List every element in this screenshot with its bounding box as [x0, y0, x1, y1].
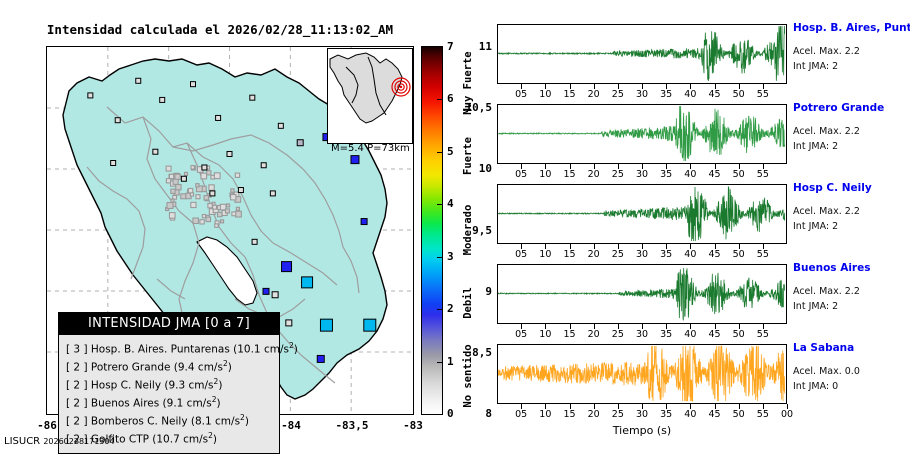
x-tick-label: 15 [558, 169, 582, 180]
x-tick-label: 40 [678, 329, 702, 340]
x-tick-label: 35 [654, 329, 678, 340]
colorbar-tick-mark [437, 152, 443, 153]
x-tick-label: 35 [654, 89, 678, 100]
urban-cell [225, 209, 229, 213]
station-marker[interactable] [297, 140, 303, 146]
legend-row: [ 2 ] Potrero Grande (9.4 cm/s2) [66, 357, 273, 375]
x-tick-label: 50 [727, 169, 751, 180]
x-tick-label: 20 [582, 169, 606, 180]
x-tick-label: 45 [703, 249, 727, 260]
urban-cell [191, 202, 196, 207]
station-marker[interactable] [136, 78, 141, 83]
waveform-canvas [498, 105, 785, 162]
seismogram-plot[interactable] [497, 344, 787, 404]
x-tick-label: 30 [630, 249, 654, 260]
x-tick-label: 05 [509, 169, 533, 180]
seismogram-plot[interactable] [497, 264, 787, 324]
urban-cell [200, 220, 204, 224]
x-tick-label: 20 [582, 409, 606, 420]
x-tick-label: 25 [606, 169, 630, 180]
urban-cell [169, 174, 173, 178]
station-marker[interactable] [351, 156, 359, 164]
map-x-tick: -83,5 [327, 419, 377, 432]
station-name[interactable]: Buenos Aires [793, 262, 870, 274]
x-tick-label: 45 [703, 409, 727, 420]
urban-cell [191, 166, 194, 169]
x-tick-label: 15 [558, 89, 582, 100]
station-int-jma: Int JMA: 0 [793, 381, 838, 392]
intensity-legend: INTENSIDAD JMA [0 a 7] [ 3 ] Hosp. B. Ai… [58, 312, 280, 454]
station-marker[interactable] [111, 160, 116, 165]
station-marker[interactable] [261, 163, 266, 168]
station-name[interactable]: Hosp. B. Aires, Puntare [793, 22, 910, 34]
x-tick-label: 25 [606, 409, 630, 420]
urban-cell [209, 185, 214, 190]
waveform-canvas [498, 25, 785, 82]
x-tick-label: 20 [582, 329, 606, 340]
x-tick-label: 10 [533, 409, 557, 420]
x-tick-label: 10 [533, 169, 557, 180]
x-tick-label: 30 [630, 329, 654, 340]
urban-cell [188, 188, 192, 192]
station-marker[interactable] [270, 191, 275, 196]
station-marker[interactable] [302, 277, 313, 288]
colorbar-category-label: Muy Fuerte [462, 51, 474, 114]
urban-cell [166, 166, 171, 171]
x-tick-label: 40 [678, 249, 702, 260]
page-title: Intensidad calculada el 2026/02/28_11:13… [0, 22, 440, 37]
station-accel-max: Acel. Max. 0.0 [793, 366, 860, 377]
inset-magnitude-caption: M=5.4 P=73km [331, 143, 410, 154]
legend-rows: [ 3 ] Hosp. B. Aires. Puntarenas (10.1 c… [59, 335, 279, 453]
footer-timestamp: 20260228171304 [43, 437, 114, 446]
x-tick-label: 55 [751, 249, 775, 260]
station-marker[interactable] [364, 319, 376, 331]
station-marker[interactable] [317, 355, 324, 362]
x-tick-label: 20 [582, 249, 606, 260]
x-tick-label: 50 [727, 89, 751, 100]
x-tick-label: 10 [533, 89, 557, 100]
legend-title: INTENSIDAD JMA [0 a 7] [59, 313, 279, 335]
x-tick-label: 25 [606, 89, 630, 100]
colorbar-tick-label: 2 [447, 302, 454, 315]
urban-cell [221, 220, 224, 223]
urban-cell [204, 196, 208, 200]
x-tick-label: 50 [727, 329, 751, 340]
urban-cell [231, 189, 234, 192]
x-tick-label: 35 [654, 169, 678, 180]
station-marker[interactable] [88, 93, 93, 98]
x-tick-label: 05 [509, 249, 533, 260]
station-marker[interactable] [361, 219, 367, 225]
station-name[interactable]: La Sabana [793, 342, 854, 354]
x-tick-label: 35 [654, 409, 678, 420]
station-name[interactable]: Hosp C. Neily [793, 182, 872, 194]
locator-inset-map[interactable] [327, 48, 413, 144]
station-marker[interactable] [286, 320, 292, 326]
x-tick-label: 35 [654, 249, 678, 260]
station-int-jma: Int JMA: 2 [793, 61, 838, 72]
urban-cell [201, 173, 207, 179]
legend-row: [ 3 ] Hosp. B. Aires. Puntarenas (10.1 c… [66, 339, 273, 357]
urban-cell [206, 217, 211, 222]
colorbar-tick-label: 0 [447, 407, 454, 420]
colorbar-tick-label: 3 [447, 250, 454, 263]
seismogram-plot[interactable] [497, 24, 787, 84]
station-int-jma: Int JMA: 2 [793, 141, 838, 152]
epicenter-marker [392, 78, 410, 96]
seismogram-x-axis: 0510152025303540455055 [497, 244, 787, 260]
station-accel-max: Acel. Max. 2.2 [793, 286, 860, 297]
urban-cell [208, 204, 212, 208]
x-tick-label: 05 [509, 329, 533, 340]
colorbar-tick-label: 7 [447, 40, 454, 53]
footer-stamp: LISUCR 20260228171304 [4, 436, 115, 447]
urban-cell [167, 203, 173, 209]
urban-cell [231, 195, 236, 200]
x-tick-label: 50 [727, 409, 751, 420]
x-tick-label: 10 [533, 329, 557, 340]
time-axis-label: Tiempo (s) [497, 424, 787, 437]
x-tick-label: 55 [751, 409, 775, 420]
seismogram-plot[interactable] [497, 104, 787, 164]
seismogram-x-axis: 0510152025303540455055 [497, 84, 787, 100]
x-tick-label: 20 [582, 89, 606, 100]
urban-cell [218, 212, 222, 216]
urban-cell [171, 199, 174, 202]
urban-cell [184, 172, 187, 175]
x-tick-label: 40 [678, 169, 702, 180]
station-marker[interactable] [153, 149, 158, 154]
seismogram-x-axis: 0510152025303540455055 [497, 324, 787, 340]
x-tick-label: 05 [509, 409, 533, 420]
station-marker[interactable] [252, 239, 257, 244]
urban-cell [196, 184, 199, 187]
station-marker[interactable] [202, 165, 207, 170]
x-tick-label: 30 [630, 169, 654, 180]
footer-agency: LISUCR [4, 436, 40, 447]
x-tick-label: 45 [703, 169, 727, 180]
inset-canvas [328, 49, 412, 143]
legend-row: [ 2 ] Bomberos C. Neily (8.1 cm/s2) [66, 411, 273, 429]
urban-cell [176, 184, 181, 189]
colorbar-tick-label: 6 [447, 92, 454, 105]
station-accel-max: Acel. Max. 2.2 [793, 206, 860, 217]
map-y-tick: 8 [452, 407, 492, 420]
station-marker[interactable] [227, 151, 232, 156]
station-marker[interactable] [250, 95, 255, 100]
x-tick-label: 10 [533, 249, 557, 260]
colorbar-category-label: Moderado [462, 204, 474, 255]
x-tick-label: 25 [606, 249, 630, 260]
colorbar-category-label: No sentido [462, 345, 474, 408]
urban-cell [236, 211, 242, 217]
x-tick-label: 00 [775, 409, 799, 420]
station-marker[interactable] [115, 118, 120, 123]
waveform-trace [498, 268, 785, 320]
station-marker[interactable] [181, 176, 186, 181]
colorbar-tick-label: 1 [447, 355, 454, 368]
urban-cell [235, 173, 239, 177]
legend-row: [ 2 ] Buenos Aires (9.1 cm/s2) [66, 393, 273, 411]
colorbar-tick-mark [437, 99, 443, 100]
station-marker[interactable] [282, 262, 292, 272]
station-marker[interactable] [278, 123, 283, 128]
urban-cell [202, 215, 205, 218]
x-tick-label: 40 [678, 89, 702, 100]
x-tick-label: 50 [727, 249, 751, 260]
urban-cell [214, 173, 220, 179]
x-tick-label: 30 [630, 409, 654, 420]
waveform-canvas [498, 345, 785, 402]
urban-cell [227, 204, 230, 207]
station-marker[interactable] [272, 292, 278, 298]
urban-cell [213, 205, 217, 209]
waveform-trace [498, 26, 785, 81]
waveform-canvas [498, 185, 785, 242]
station-marker[interactable] [160, 97, 165, 102]
station-marker[interactable] [210, 191, 215, 196]
x-tick-label: 40 [678, 409, 702, 420]
x-tick-label: 15 [558, 249, 582, 260]
station-marker[interactable] [191, 82, 196, 87]
station-accel-max: Acel. Max. 2.2 [793, 46, 860, 57]
seismogram-x-axis: 051015202530354045505500 [497, 404, 787, 420]
colorbar-tick-mark [437, 257, 443, 258]
colorbar-tick-mark [437, 362, 443, 363]
x-tick-label: 15 [558, 409, 582, 420]
urban-cell [171, 189, 175, 193]
seismogram-x-axis: 0510152025303540455055 [497, 164, 787, 180]
station-accel-max: Acel. Max. 2.2 [793, 126, 860, 137]
urban-cell [232, 212, 236, 216]
waveform-canvas [498, 265, 785, 322]
colorbar-tick-label: 5 [447, 145, 454, 158]
intensity-colorbar[interactable] [421, 46, 443, 415]
station-int-jma: Int JMA: 2 [793, 301, 838, 312]
urban-cell [207, 171, 211, 175]
x-tick-label: 05 [509, 89, 533, 100]
urban-cell [196, 195, 200, 199]
station-marker[interactable] [238, 188, 243, 193]
waveform-trace [498, 187, 785, 241]
map-x-tick: -83 [388, 419, 438, 432]
x-tick-label: 55 [751, 169, 775, 180]
seismogram-plot[interactable] [497, 184, 787, 244]
station-marker[interactable] [263, 288, 269, 294]
x-tick-label: 30 [630, 89, 654, 100]
station-marker[interactable] [320, 319, 332, 331]
colorbar-category-label: Debil [462, 287, 474, 319]
x-tick-label: 15 [558, 329, 582, 340]
station-int-jma: Int JMA: 2 [793, 221, 838, 232]
x-tick-label: 25 [606, 329, 630, 340]
urban-cell [181, 194, 186, 199]
waveform-trace [498, 346, 785, 401]
station-marker[interactable] [216, 115, 221, 120]
x-tick-label: 45 [703, 329, 727, 340]
colorbar-tick-mark [437, 309, 443, 310]
urban-cell [215, 224, 218, 227]
urban-cell [236, 207, 239, 210]
urban-cell [169, 213, 175, 219]
urban-cell [173, 179, 178, 184]
colorbar-tick-label: 4 [447, 197, 454, 210]
x-tick-label: 55 [751, 89, 775, 100]
legend-row: [ 2 ] Hosp C. Neily (9.3 cm/s2) [66, 375, 273, 393]
x-tick-label: 55 [751, 329, 775, 340]
station-name[interactable]: Potrero Grande [793, 102, 884, 114]
waveform-trace [498, 106, 785, 161]
colorbar-tick-mark [437, 204, 443, 205]
colorbar-category-label: Fuerte [462, 137, 474, 175]
urban-cell [193, 218, 198, 223]
x-tick-label: 45 [703, 89, 727, 100]
